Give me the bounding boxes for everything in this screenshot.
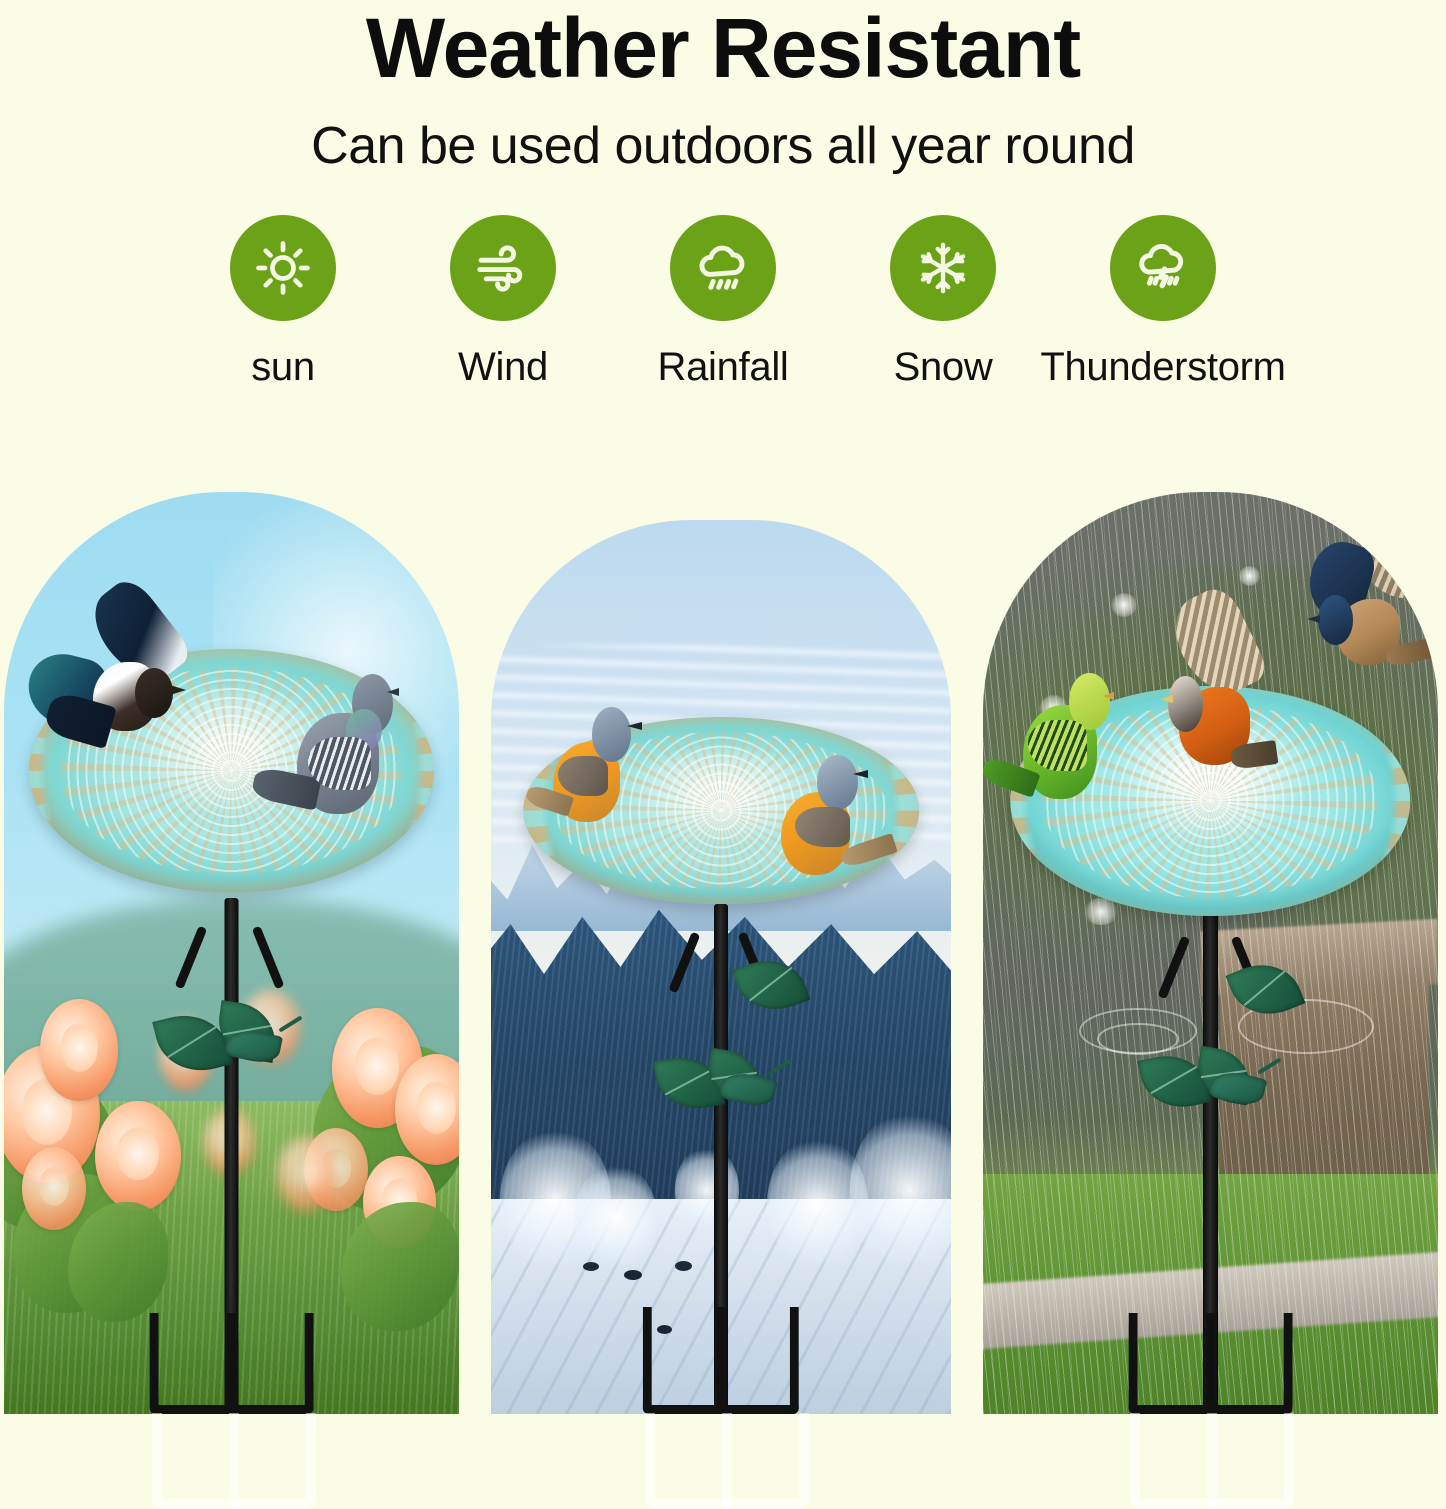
page-subtitle: Can be used outdoors all year round — [0, 118, 1446, 175]
wind-icon — [472, 237, 534, 299]
snowflake-icon — [914, 239, 972, 297]
rainfall-badge — [670, 215, 776, 321]
weather-item-thunderstorm: Thunderstorm — [1083, 215, 1243, 390]
sun-icon — [253, 238, 313, 298]
weather-item-wind: Wind — [423, 215, 583, 390]
thunderstorm-badge — [1110, 215, 1216, 321]
weather-item-rainfall: Rainfall — [643, 215, 803, 390]
weather-item-sun: sun — [203, 215, 363, 390]
ghost-pole-1 — [229, 1413, 239, 1509]
rainy-backyard-panel[interactable] — [983, 492, 1438, 1414]
weather-label-snow: Snow — [894, 345, 993, 390]
snowy-mountain-panel[interactable] — [491, 520, 951, 1414]
budgerigar-bird — [1010, 667, 1137, 824]
sunny-rose-garden-panel[interactable] — [4, 492, 459, 1414]
page-title: Weather Resistant — [0, 4, 1446, 92]
orange-breasted-bird-left — [546, 699, 661, 842]
weather-label-wind: Wind — [458, 345, 548, 390]
sun-badge — [230, 215, 336, 321]
ghost-pole-3 — [1207, 1413, 1217, 1509]
robin-bathing-bird — [1151, 603, 1288, 787]
decorative-leaf — [1225, 952, 1305, 1027]
rain-cloud-icon — [692, 237, 754, 299]
weather-item-snow: Snow — [863, 215, 1023, 390]
flying-bird-right — [1302, 529, 1439, 695]
decorative-leaf — [732, 949, 811, 1021]
orange-breasted-bird-right — [776, 752, 896, 895]
pigeon-bird — [286, 667, 423, 842]
weather-feature-row: sun Wind Rainfall — [0, 215, 1446, 390]
product-photo-panels — [0, 492, 1446, 1417]
bird-bath-product-2 — [491, 520, 951, 1414]
weather-label-sun: sun — [251, 345, 315, 390]
weather-label-thunderstorm: Thunderstorm — [1040, 345, 1285, 390]
thunderstorm-icon — [1132, 237, 1194, 299]
weather-label-rainfall: Rainfall — [658, 345, 789, 390]
magpie-bird — [36, 612, 227, 778]
ghost-pole-2 — [722, 1413, 732, 1509]
wind-badge — [450, 215, 556, 321]
snow-badge — [890, 215, 996, 321]
header: Weather Resistant Can be used outdoors a… — [0, 0, 1446, 175]
